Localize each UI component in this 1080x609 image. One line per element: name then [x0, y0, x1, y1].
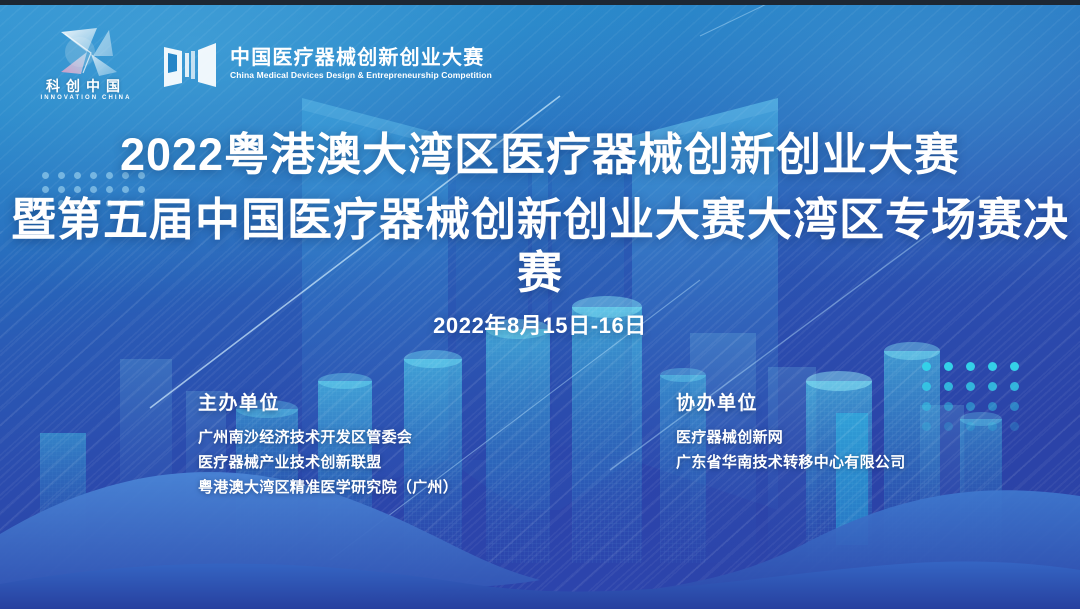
poster-headline: 2022粤港澳大湾区医疗器械创新创业大赛 暨第五届中国医疗器械创新创业大赛大湾区… — [0, 128, 1080, 299]
competition-cn-title: 中国医疗器械创新创业大赛 — [230, 48, 492, 69]
host-heading: 主办单位 — [198, 388, 458, 415]
innovation-china-en-label: INNOVATION CHINA — [40, 95, 131, 101]
host-item: 广州南沙经济技术开发区管委会 — [198, 426, 458, 451]
headline-line-2: 暨第五届中国医疗器械创新创业大赛大湾区专场赛决赛 — [0, 193, 1080, 299]
event-date: 2022年8月15日-16日 — [0, 308, 1080, 340]
competition-door-icon — [162, 39, 218, 89]
innovation-china-butterfly-icon — [47, 26, 125, 78]
top-edge-strip — [0, 0, 1080, 5]
innovation-china-cn-label: 科创中国 — [46, 79, 126, 93]
logo-bar: 科创中国 INNOVATION CHINA 中国医疗器械创新创业大赛 China… — [38, 26, 492, 101]
innovation-china-logo: 科创中国 INNOVATION CHINA — [38, 26, 134, 101]
competition-logo: 中国医疗器械创新创业大赛 China Medical Devices Desig… — [162, 39, 492, 89]
co-organizer-item: 广东省华南技术转移中心有限公司 — [676, 451, 906, 476]
host-item: 粤港澳大湾区精准医学研究院（广州） — [198, 476, 458, 501]
co-organizer-block: 协办单位 医疗器械创新网 广东省华南技术转移中心有限公司 — [676, 388, 906, 476]
event-poster: 科创中国 INNOVATION CHINA 中国医疗器械创新创业大赛 China… — [0, 0, 1080, 609]
competition-en-title: China Medical Devices Design & Entrepren… — [230, 71, 492, 80]
host-item: 医疗器械产业技术创新联盟 — [198, 451, 458, 476]
headline-line-1: 2022粤港澳大湾区医疗器械创新创业大赛 — [0, 128, 1080, 181]
co-organizer-item: 医疗器械创新网 — [676, 426, 906, 451]
bottom-wave-shapes — [0, 434, 1080, 609]
co-organizer-heading: 协办单位 — [676, 388, 906, 415]
dot-grid-right — [922, 362, 1032, 442]
host-organizer-block: 主办单位 广州南沙经济技术开发区管委会 医疗器械产业技术创新联盟 粤港澳大湾区精… — [198, 388, 458, 500]
